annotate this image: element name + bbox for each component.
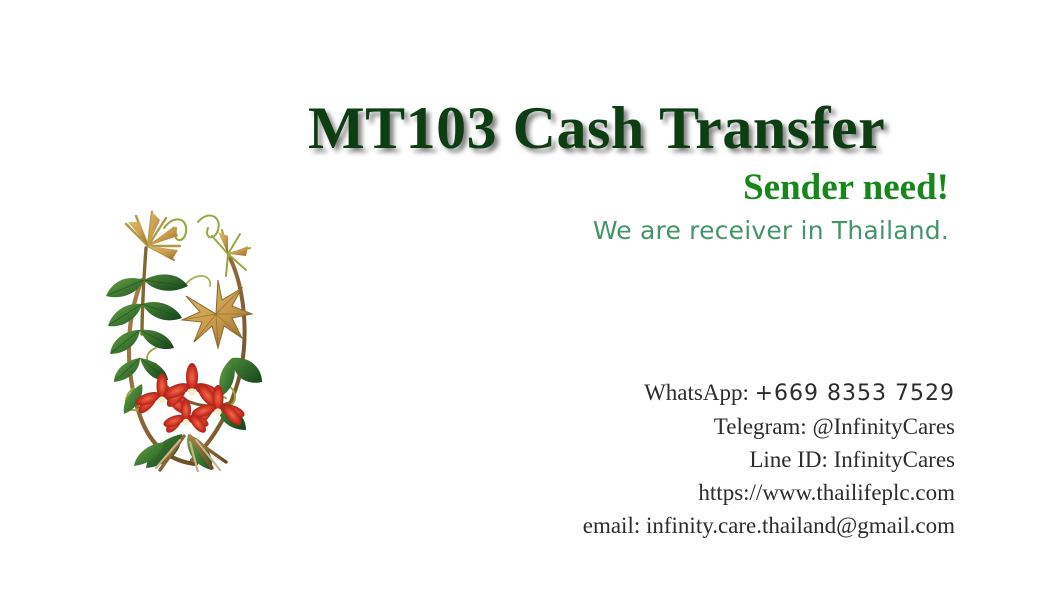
tagline: We are receiver in Thailand. [280,214,949,248]
contact-label-whatsapp: WhatsApp: [644,380,749,405]
contact-line-lineid: Line ID: InfinityCares [280,443,955,476]
contact-value-telegram[interactable]: @InfinityCares [812,414,955,439]
contact-value-lineid[interactable]: InfinityCares [834,447,955,472]
page-title: MT103 Cash Transfer [308,96,955,160]
contact-line-telegram: Telegram: @InfinityCares [280,410,955,443]
contact-value-email[interactable]: infinity.care.thailand@gmail.com [646,513,955,538]
subtitle: Sender need! [280,166,949,210]
contact-label-lineid: Line ID: [749,447,828,472]
contact-line-email: email: infinity.care.thailand@gmail.com [280,509,955,542]
floral-vine-wreath-illustration [100,188,266,472]
contact-value-whatsapp[interactable]: +669 8353 7529 [755,381,955,406]
poster-canvas: MT103 Cash Transfer Sender need! We are … [0,0,1063,600]
contact-value-website[interactable]: https://www.thailifeplc.com [698,480,955,505]
contact-details-block: WhatsApp: +669 8353 7529 Telegram: @Infi… [280,376,955,542]
contact-line-website: https://www.thailifeplc.com [280,476,955,509]
contact-label-telegram: Telegram: [714,414,807,439]
contact-label-email: email: [583,513,640,538]
contact-line-whatsapp: WhatsApp: +669 8353 7529 [280,376,955,410]
headline-block: MT103 Cash Transfer Sender need! We are … [280,96,955,248]
